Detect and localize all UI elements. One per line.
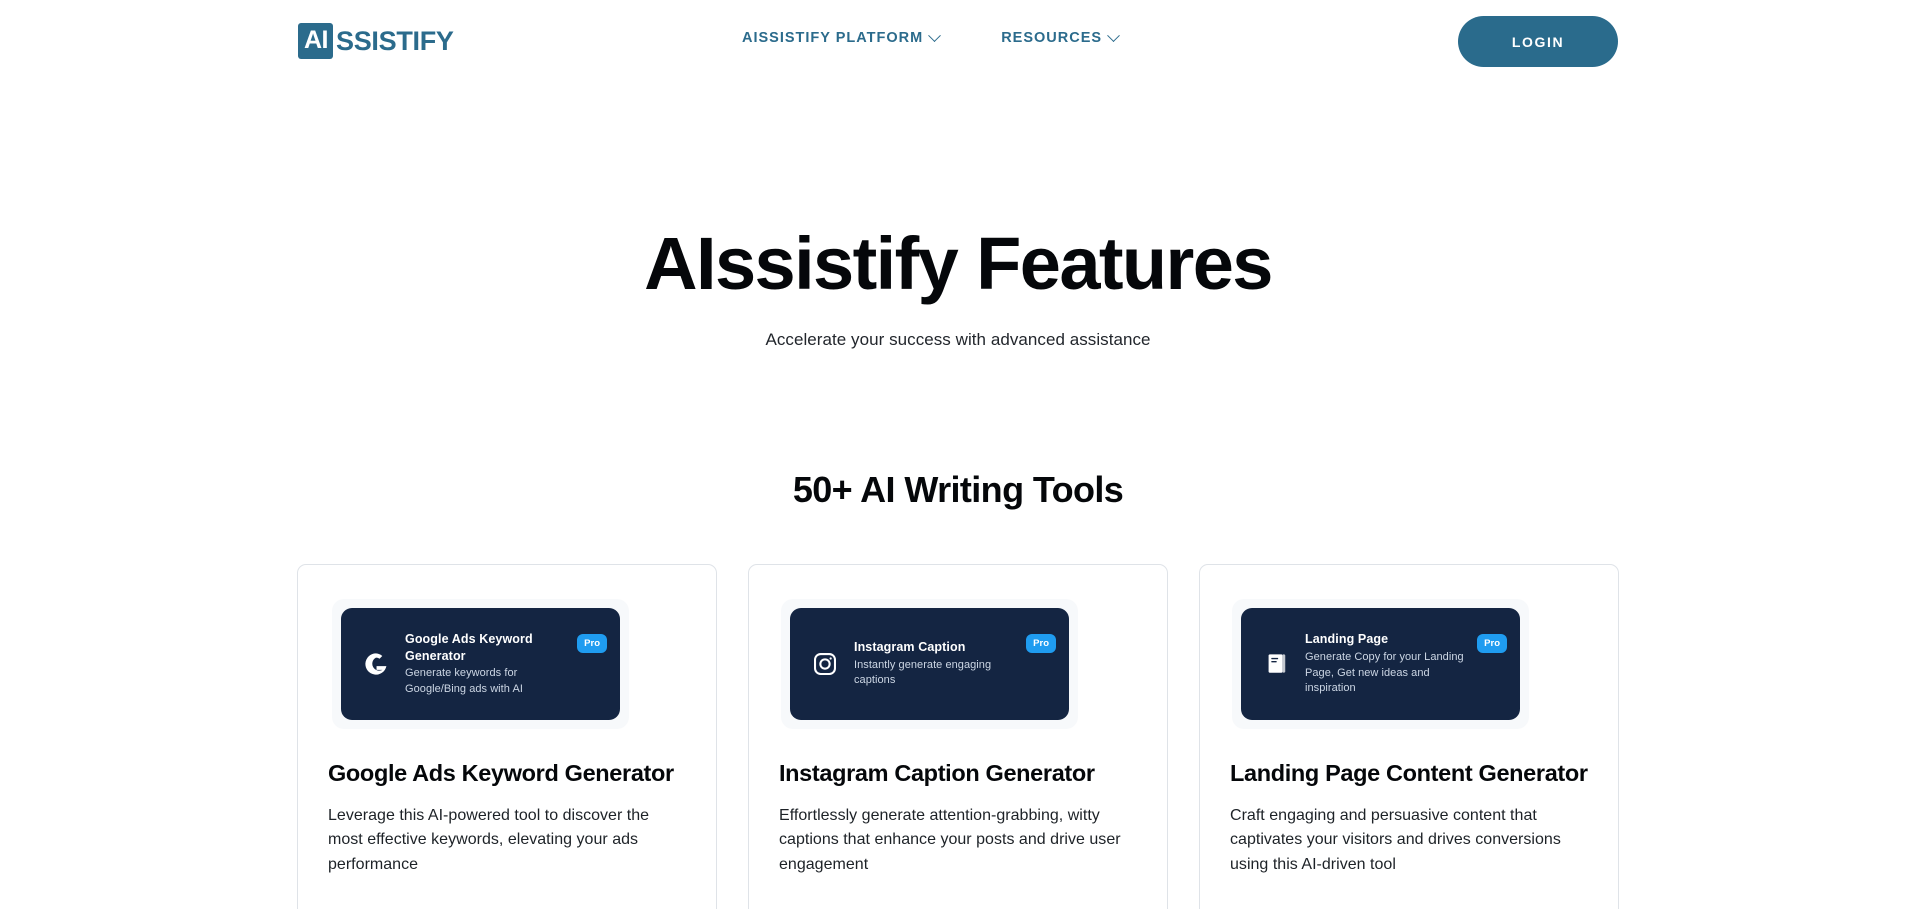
chevron-down-icon xyxy=(928,29,941,42)
tool-card-description: Effortlessly generate attention-grabbing… xyxy=(779,804,1137,877)
tools-heading: 50+ AI Writing Tools xyxy=(0,469,1916,511)
book-icon xyxy=(1257,645,1295,683)
tool-thumbnail: Instagram Caption Instantly generate eng… xyxy=(790,608,1069,720)
login-button[interactable]: LOGIN xyxy=(1458,16,1618,67)
google-g-icon xyxy=(357,645,395,683)
tool-thumbnail-frame: Instagram Caption Instantly generate eng… xyxy=(781,599,1078,729)
hero-section: AIssistify Features Accelerate your succ… xyxy=(0,82,1916,350)
tool-card-title: Google Ads Keyword Generator xyxy=(328,759,686,787)
nav-item-label: RESOURCES xyxy=(1001,30,1102,46)
tool-thumbnail: Google Ads Keyword Generator Generate ke… xyxy=(341,608,620,720)
logo-wordmark: SSISTIFY xyxy=(336,28,454,55)
tool-thumbnail-text: Google Ads Keyword Generator Generate ke… xyxy=(405,631,606,697)
nav-item-resources[interactable]: RESOURCES xyxy=(1001,30,1118,46)
nav-item-aissistify-platform[interactable]: AISSISTIFY PLATFORM xyxy=(742,30,939,46)
tool-card-landing-page-content-generator[interactable]: Landing Page Generate Copy for your Land… xyxy=(1199,564,1619,909)
pro-badge[interactable]: Pro xyxy=(577,634,607,654)
tool-thumbnail-text: Instagram Caption Instantly generate eng… xyxy=(854,639,1055,688)
tool-thumbnail-title: Landing Page xyxy=(1305,631,1455,648)
pro-badge[interactable]: Pro xyxy=(1026,634,1056,654)
tool-thumbnail-frame: Google Ads Keyword Generator Generate ke… xyxy=(332,599,629,729)
tool-thumbnail-description: Generate keywords for Google/Bing ads wi… xyxy=(405,666,572,696)
nav-item-label: AISSISTIFY PLATFORM xyxy=(742,30,923,46)
tool-card-instagram-caption-generator[interactable]: Instagram Caption Instantly generate eng… xyxy=(748,564,1168,909)
tool-cards-row: Google Ads Keyword Generator Generate ke… xyxy=(297,564,1619,909)
tool-thumbnail-frame: Landing Page Generate Copy for your Land… xyxy=(1232,599,1529,729)
tool-card-title: Landing Page Content Generator xyxy=(1230,759,1588,787)
site-header: AI SSISTIFY AISSISTIFY PLATFORM RESOURCE… xyxy=(0,0,1916,82)
tool-card-description: Leverage this AI-powered tool to discove… xyxy=(328,804,686,877)
logo-badge: AI xyxy=(298,23,333,59)
page-title: AIssistify Features xyxy=(0,225,1916,303)
chevron-down-icon xyxy=(1107,29,1120,42)
tool-thumbnail-text: Landing Page Generate Copy for your Land… xyxy=(1305,631,1506,695)
tool-thumbnail: Landing Page Generate Copy for your Land… xyxy=(1241,608,1520,720)
tool-card-title: Instagram Caption Generator xyxy=(779,759,1137,787)
tool-thumbnail-description: Generate Copy for your Landing Page, Get… xyxy=(1305,650,1472,696)
pro-badge[interactable]: Pro xyxy=(1477,634,1507,654)
tool-thumbnail-title: Instagram Caption xyxy=(854,639,1004,656)
tool-thumbnail-description: Instantly generate engaging captions xyxy=(854,658,1021,688)
logo[interactable]: AI SSISTIFY xyxy=(298,24,454,58)
tool-thumbnail-title: Google Ads Keyword Generator xyxy=(405,631,555,665)
page-subtitle: Accelerate your success with advanced as… xyxy=(0,330,1916,350)
main-navigation: AISSISTIFY PLATFORM RESOURCES xyxy=(742,30,1118,46)
tools-section: 50+ AI Writing Tools Google Ads Keyword … xyxy=(0,469,1916,909)
instagram-icon xyxy=(806,645,844,683)
tool-card-google-ads-keyword-generator[interactable]: Google Ads Keyword Generator Generate ke… xyxy=(297,564,717,909)
tool-card-description: Craft engaging and persuasive content th… xyxy=(1230,804,1588,877)
